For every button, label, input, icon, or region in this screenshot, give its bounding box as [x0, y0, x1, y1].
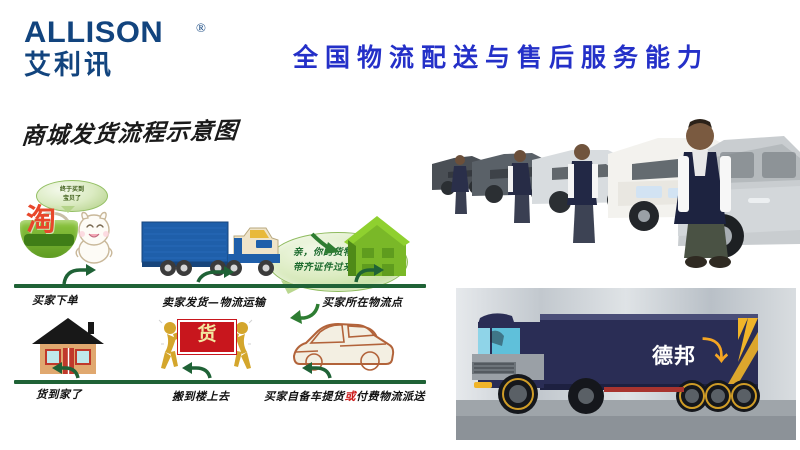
step-caption-carry: 搬到楼上去	[172, 388, 230, 404]
diagram-title: 商城发货流程示意图	[20, 111, 239, 151]
page-title: 全国物流配送与售后服务能力	[236, 38, 766, 74]
flow-arrow-5	[288, 300, 322, 326]
crate-label: 货	[180, 324, 234, 345]
step-caption-home: 货到家了	[36, 386, 82, 402]
brand-chinese-text: 艾利讯	[24, 52, 214, 80]
brand-logo: ALLISON ® 艾利讯	[24, 18, 214, 90]
slide-root: ALLISON ® 艾利讯 全国物流配送与售后服务能力 商城发货流程示意图 终于…	[0, 0, 800, 450]
cartoon-bunny-icon	[70, 208, 118, 264]
flow-arrow-2	[196, 264, 236, 286]
shipping-flow-diagram: 商城发货流程示意图 终于买到 宝贝了 亲，你的货物到了， 带齐证件过来提货吧 淘	[0, 104, 440, 422]
step-caption-pickup-or: 或	[345, 390, 357, 403]
registered-trademark-icon: ®	[196, 20, 206, 36]
step-caption-ship: 卖家发货—物流运输	[162, 294, 266, 310]
crate-box: 货	[178, 320, 236, 354]
flow-arrow-3	[308, 230, 342, 264]
flow-arrow-1	[60, 262, 96, 286]
step-caption-pickup: 买家自备车提货或付费物流派送	[264, 388, 425, 404]
flow-arrow-7	[182, 360, 214, 382]
step-caption-order: 买家下单	[32, 292, 78, 308]
deppon-truck-photo: 德邦 ⤵	[456, 288, 796, 440]
buyer-speech-bubble-text: 终于买到 宝贝了	[37, 186, 107, 203]
brand-latin-text: ALLISON	[24, 18, 220, 48]
step-caption-pickup-main: 买家自备车提货	[264, 390, 345, 403]
flow-arrow-6	[300, 360, 334, 382]
deppon-swoosh-icon: ⤵	[702, 338, 728, 364]
step-caption-pickup-tail: 付费物流派送	[356, 390, 425, 403]
deppon-logo-text: 德邦	[652, 340, 696, 370]
step-caption-station: 买家所在物流点	[322, 294, 403, 310]
basket-character-label: 淘	[26, 206, 56, 236]
flow-arrow-8	[52, 360, 82, 382]
fleet-photo	[432, 112, 800, 270]
flow-arrow-4	[352, 262, 384, 286]
